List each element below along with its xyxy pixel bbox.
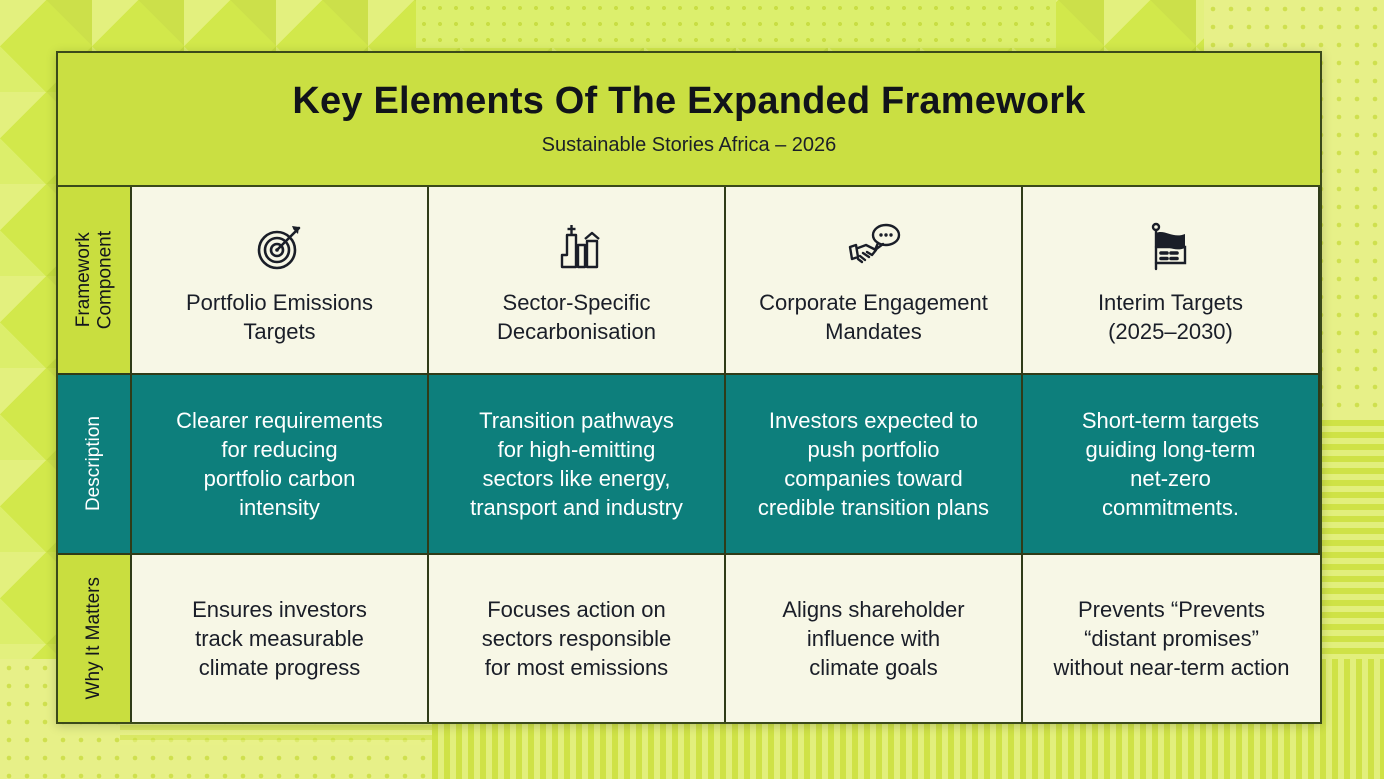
description-text: Transition pathways for high-emitting se… bbox=[470, 406, 683, 522]
description-text: Short-term targets guiding long-term net… bbox=[1082, 406, 1259, 522]
cell-description-1: Clearer requirements for reducing portfo… bbox=[132, 375, 429, 555]
cell-why-1: Ensures investors track measurable clima… bbox=[132, 555, 429, 722]
cell-why-3: Aligns shareholder influence with climat… bbox=[726, 555, 1023, 722]
why-text: Ensures investors track measurable clima… bbox=[192, 595, 367, 682]
industrial-buildings-icon bbox=[549, 213, 605, 275]
cell-component-4: Interim Targets (2025–2030) bbox=[1023, 187, 1320, 375]
handshake-speech-icon bbox=[844, 213, 904, 275]
cell-description-4: Short-term targets guiding long-term net… bbox=[1023, 375, 1320, 555]
component-title: Portfolio Emissions Targets bbox=[186, 289, 373, 346]
row-label-text: Why It Matters bbox=[83, 577, 104, 699]
component-title: Interim Targets (2025–2030) bbox=[1098, 289, 1243, 346]
component-title: Corporate Engagement Mandates bbox=[759, 289, 988, 346]
framework-table: Key Elements Of The Expanded Framework S… bbox=[56, 51, 1322, 724]
why-text: Prevents “Prevents “distant promises” wi… bbox=[1054, 595, 1290, 682]
cell-description-3: Investors expected to push portfolio com… bbox=[726, 375, 1023, 555]
table-header-bar: Key Elements Of The Expanded Framework S… bbox=[58, 53, 1320, 187]
row-label-text: Framework Component bbox=[73, 231, 116, 329]
row-label-framework-component: Framework Component bbox=[58, 187, 132, 375]
cell-component-1: Portfolio Emissions Targets bbox=[132, 187, 429, 375]
cell-why-4: Prevents “Prevents “distant promises” wi… bbox=[1023, 555, 1320, 722]
target-arrow-icon bbox=[252, 213, 308, 275]
component-title: Sector-Specific Decarbonisation bbox=[497, 289, 656, 346]
row-label-text: Description bbox=[83, 416, 104, 511]
why-text: Focuses action on sectors responsible fo… bbox=[482, 595, 672, 682]
table-grid: Framework Component Portfolio Emissions … bbox=[58, 187, 1320, 724]
dot-pattern-top bbox=[416, 0, 1056, 48]
why-text: Aligns shareholder influence with climat… bbox=[782, 595, 964, 682]
page-title: Key Elements Of The Expanded Framework bbox=[292, 81, 1085, 123]
cell-component-3: Corporate Engagement Mandates bbox=[726, 187, 1023, 375]
page-subtitle: Sustainable Stories Africa – 2026 bbox=[542, 134, 837, 157]
description-text: Clearer requirements for reducing portfo… bbox=[176, 406, 383, 522]
row-label-description: Description bbox=[58, 375, 132, 555]
cell-why-2: Focuses action on sectors responsible fo… bbox=[429, 555, 726, 722]
description-text: Investors expected to push portfolio com… bbox=[758, 406, 989, 522]
cell-description-2: Transition pathways for high-emitting se… bbox=[429, 375, 726, 555]
row-label-why-it-matters: Why It Matters bbox=[58, 555, 132, 722]
cell-component-2: Sector-Specific Decarbonisation bbox=[429, 187, 726, 375]
flag-icon bbox=[1143, 213, 1199, 275]
